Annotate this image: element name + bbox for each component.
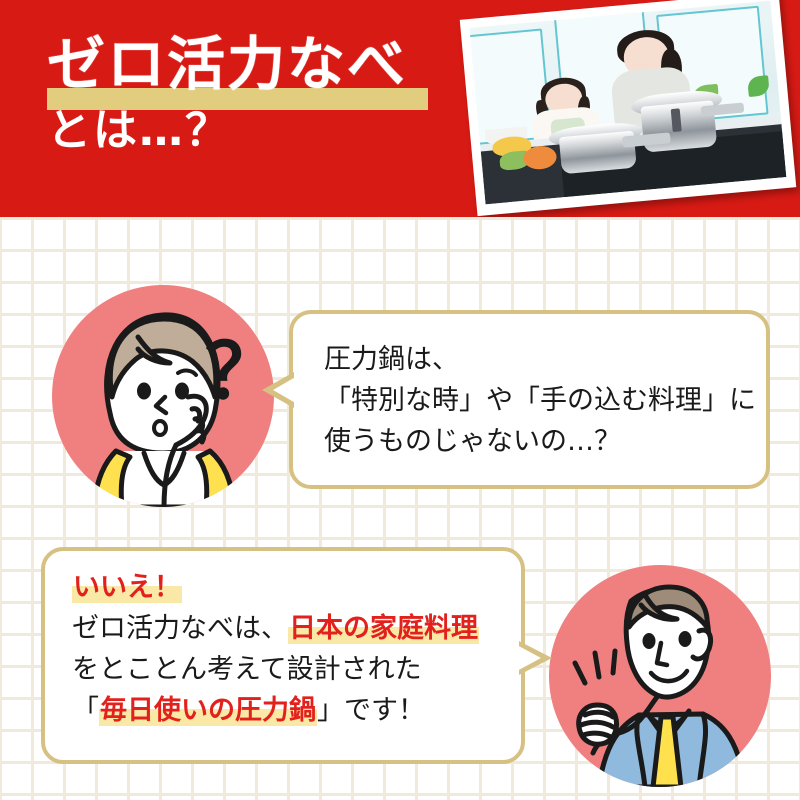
man-illustration-svg: [549, 565, 771, 787]
answer-bubble-tail-fill: [515, 644, 541, 672]
question-line-3: 使うものじゃないの…？: [324, 421, 756, 462]
answer-bubble: いいえ！ ゼロ活力なべは、日本の家庭料理 をとことん考えて設計された 「毎日使い…: [41, 547, 525, 764]
question-bubble-text: 圧力鍋は、 「特別な時」や「手の込む料理」に 使うものじゃないの…？: [324, 339, 756, 462]
avatar-man: [549, 565, 771, 787]
answer-line-1: いいえ！: [72, 567, 479, 608]
answer-emphasis-iie: いいえ！: [72, 572, 182, 603]
answer-line2-plain: ゼロ活力なべは、: [72, 613, 288, 644]
header-title-group: ゼロ活力なべ とは…？: [47, 34, 407, 153]
page-title: ゼロ活力なべ: [47, 34, 407, 95]
answer-emphasis-japanese-home-cooking: 日本の家庭料理: [288, 613, 479, 644]
answer-line-2: ゼロ活力なべは、日本の家庭料理: [72, 608, 479, 649]
question-bubble-tail-fill: [273, 375, 299, 405]
hero-photo-frame: [460, 0, 797, 216]
hero-photo-kitchen: [470, 1, 787, 205]
question-bubble: 圧力鍋は、 「特別な時」や「手の込む料理」に 使うものじゃないの…？: [289, 310, 770, 489]
answer-line-4: 「毎日使いの圧力鍋」です！: [72, 690, 479, 731]
answer-line-3: をとことん考えて設計された: [72, 649, 479, 690]
answer-bubble-text: いいえ！ ゼロ活力なべは、日本の家庭料理 をとことん考えて設計された 「毎日使い…: [72, 567, 479, 731]
question-line-1: 圧力鍋は、: [324, 339, 756, 380]
answer-emphasis-daily-pressure-cooker: 毎日使いの圧力鍋: [99, 695, 317, 726]
header-banner: ゼロ活力なべ とは…？: [0, 0, 800, 217]
page-subtitle: とは…？: [47, 109, 407, 153]
page-title-text: ゼロ活力なべ: [47, 30, 407, 98]
question-line-2: 「特別な時」や「手の込む料理」に: [324, 380, 756, 421]
answer-line4-close: 」です！: [317, 695, 425, 726]
answer-line4-open: 「: [72, 695, 99, 726]
page-root: ゼロ活力なべ とは…？: [0, 0, 800, 800]
